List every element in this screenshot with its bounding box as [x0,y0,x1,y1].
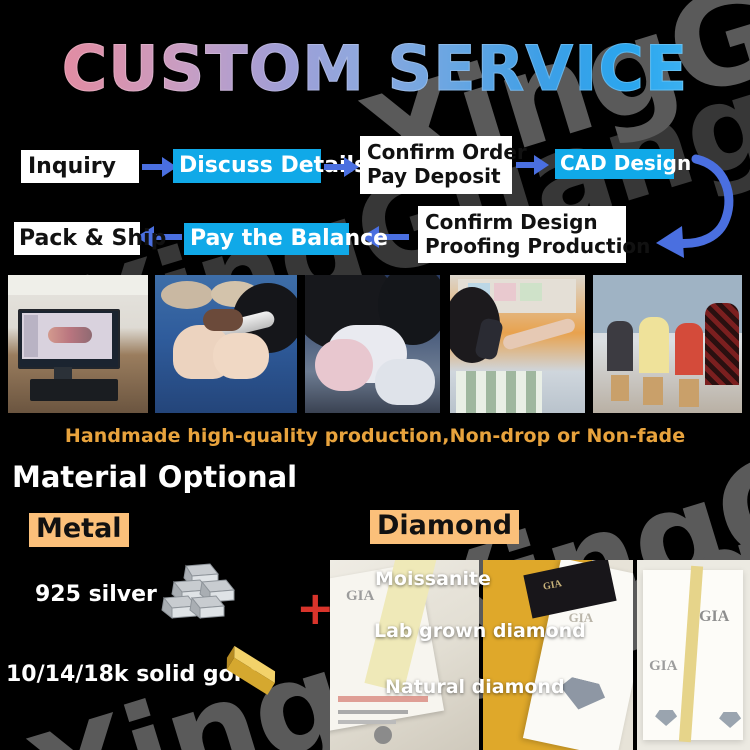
photo-cad-design-workstation [8,275,148,413]
photo-workshop-team-production [593,275,742,413]
flow-node-inquiry[interactable]: Inquiry [21,150,139,183]
flow-node-label: Confirm Design [425,211,619,235]
flow-node-label-line2: Proofing Production [425,235,619,259]
arrow-right-2 [324,156,360,178]
diamond-option-moissanite: Moissanite [375,568,491,590]
flow-node-label-line2: Pay Deposit [367,165,505,189]
photo-gia-yellow-folder-card: GIA GIA [483,560,634,750]
diamond-option-lab-grown-diamond: Lab grown diamond [374,620,586,642]
photo-bench-jeweler-workbench [450,275,585,413]
diamond-chip-label: Diamond [370,510,519,544]
flow-node-confirm-order[interactable]: Confirm Order Pay Deposit [360,136,512,194]
gold-bar-icon [212,643,290,705]
metal-chip-label: Metal [29,513,129,547]
metal-option-925-silver: 925 silver [35,582,157,607]
diamond-option-natural-diamond: Natural diamond [385,676,565,698]
flow-node-confirm-design[interactable]: Confirm Design Proofing Production [418,206,626,263]
photo-microscope-stone-setting [155,275,297,413]
flow-node-pay-balance[interactable]: Pay the Balance [184,223,349,255]
silver-bars-icon [158,562,238,624]
plus-icon: + [296,585,335,631]
photo-gloved-hands-polishing [305,275,440,413]
production-photo-strip [0,275,750,413]
arrow-right-3 [516,154,550,176]
material-optional-heading: Material Optional [12,460,297,494]
photo-gia-certificate-stack: GIA GIA [637,560,750,750]
flow-node-label: Inquiry [28,154,132,180]
flow-node-label: Confirm Order [367,141,505,165]
flow-node-pack-ship[interactable]: Pack & Ship [14,222,140,255]
handmade-caption: Handmade high-quality production,Non-dro… [0,425,750,447]
flow-node-discuss-details[interactable]: Discuss Details [173,149,321,183]
custom-service-infographic: XingGuang XingGuang XingGuang XingGuang … [0,0,750,750]
flow-node-label: Discuss Details [179,153,315,179]
flow-node-label: Pay the Balance [190,226,343,252]
flow-node-label: Pack & Ship [19,226,135,252]
page-title: CUSTOM SERVICE [0,32,750,105]
process-flowchart: Inquiry Discuss Details Confirm Order Pa… [0,128,750,273]
